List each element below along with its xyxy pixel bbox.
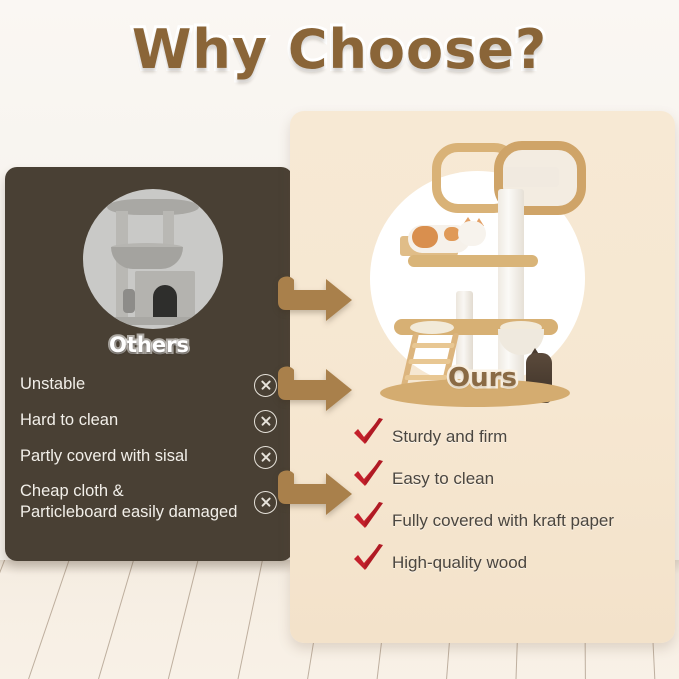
- floor-plank: [0, 560, 9, 679]
- list-item: Partly coverd with sisal: [5, 439, 293, 475]
- list-item: Unstable: [5, 367, 293, 403]
- others-product-image: [83, 189, 223, 329]
- floor-plank: [154, 560, 201, 679]
- red-check-icon: [348, 538, 388, 578]
- list-item: Hard to clean: [5, 403, 293, 439]
- floor-plank: [226, 560, 265, 679]
- curved-arrow-right-icon: [272, 364, 356, 420]
- floor-plank: [82, 560, 137, 679]
- ours-item-label: Sturdy and firm: [392, 427, 507, 447]
- others-list: Unstable Hard to clean Partly coverd wit…: [5, 367, 293, 529]
- list-item: High-quality wood: [350, 542, 675, 584]
- ours-item-label: High-quality wood: [392, 553, 527, 573]
- others-item-label: Cheap cloth & Particleboard easily damag…: [20, 481, 248, 523]
- others-item-label-line2: Particleboard easily damaged: [20, 502, 248, 523]
- cross-circle-icon: [254, 446, 277, 469]
- orange-cat: [408, 217, 486, 257]
- list-item: Easy to clean: [350, 458, 675, 500]
- others-item-label: Unstable: [20, 374, 248, 395]
- others-panel: Others Unstable Hard to clean Partly cov…: [5, 167, 293, 561]
- infographic-canvas: Why Choose? Others Unstable Hard to clea…: [0, 0, 679, 679]
- list-item: Sturdy and firm: [350, 416, 675, 458]
- curved-arrow-right-icon: [272, 274, 356, 330]
- ours-list: Sturdy and firm Easy to clean Fully cove…: [350, 416, 675, 584]
- ours-product-image: [348, 141, 618, 391]
- ours-item-label: Easy to clean: [392, 469, 494, 489]
- others-item-label: Partly coverd with sisal: [20, 446, 248, 467]
- others-item-label: Hard to clean: [20, 410, 248, 431]
- curved-arrow-right-icon: [272, 468, 356, 524]
- floor-plank: [11, 560, 73, 679]
- list-item: Cheap cloth & Particleboard easily damag…: [5, 475, 293, 529]
- others-item-label-line1: Cheap cloth &: [20, 481, 248, 502]
- list-item: Fully covered with kraft paper: [350, 500, 675, 542]
- ours-item-label: Fully covered with kraft paper: [392, 511, 614, 531]
- others-heading: Others: [5, 333, 293, 357]
- page-title: Why Choose?: [0, 18, 679, 81]
